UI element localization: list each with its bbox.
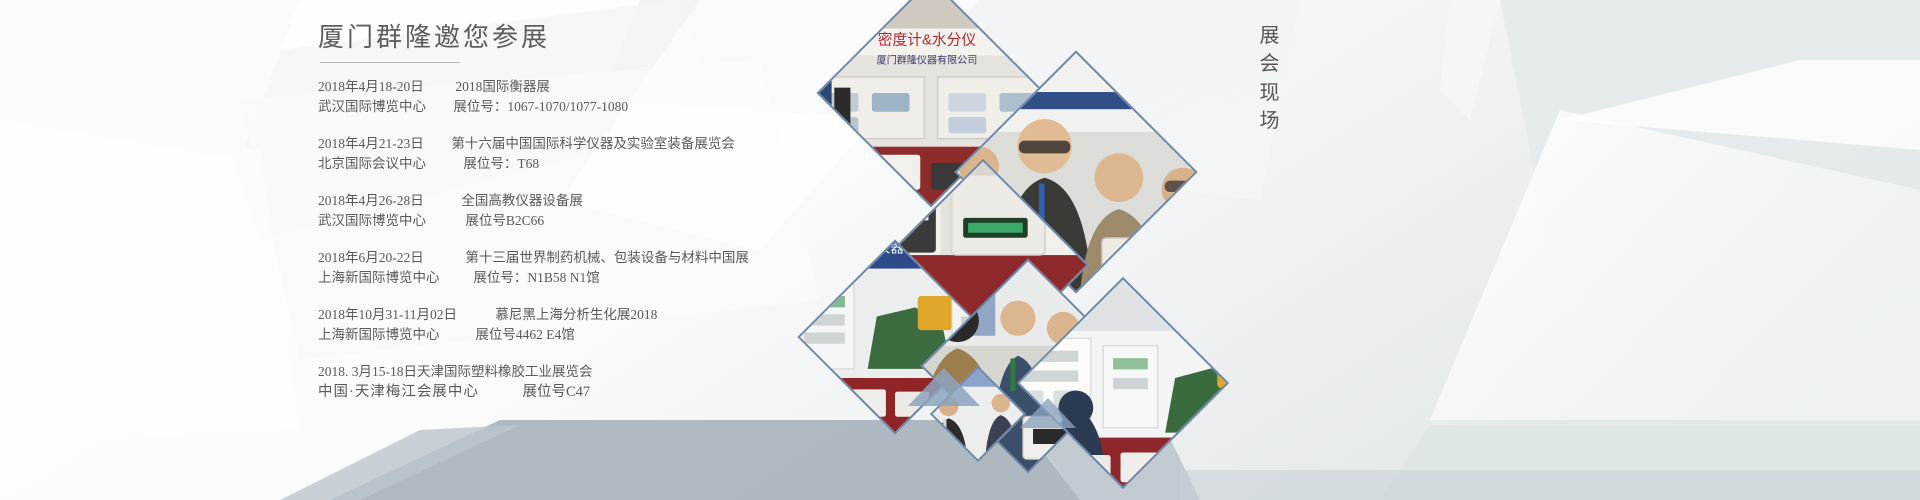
event-venue: 上海新国际博览中心 [318,268,450,288]
banner-root: 厦门群隆邀您参展 2018年4月18-20日 2018国际衡器展 武汉国际博览中… [0,0,1920,500]
title-divider [320,62,460,63]
event-name: 慕尼黑上海分析生化展2018 [473,305,657,325]
vertical-heading-char: 展 [1255,22,1285,50]
event-name: 2018国际衡器展 [439,77,550,97]
vertical-heading-char: 场 [1255,107,1285,135]
vertical-heading: 展 会 现 场 [1255,22,1285,136]
event-date: 2018年4月21-23日 [318,134,436,154]
event-booth: 展位号C47 [482,382,590,402]
event-venue: 武汉国际博览中心 [318,97,436,117]
event-date: 2018年4月18-20日 [318,77,436,97]
event-date: 2018年10月31-11月02日 [318,305,470,325]
event-name: 全国高教仪器设备展 [439,191,583,211]
svg-text:群隆仪器: 群隆仪器 [849,241,904,256]
event-date: 2018年4月26-28日 [318,191,436,211]
event-date: 2018年6月20-22日 [318,248,436,268]
photo-collage: 密度计&水分仪 厦门群隆仪器有限公司 [830,0,1250,500]
event-booth: 展位号B2C66 [439,211,544,231]
event-name: 第十六届中国国际科学仪器及实验室装备展览会 [439,134,735,154]
vertical-heading-char: 现 [1255,79,1285,107]
svg-text:3nGAT: 3nGAT [1165,285,1221,305]
vertical-heading-char: 会 [1255,50,1285,78]
decorative-triangle [1020,398,1076,428]
event-venue: 上海新国际博览中心 [318,325,450,345]
event-booth: 展位号4462 E4馆 [453,325,574,345]
event-name: 第十三届世界制药机械、包装设备与材料中国展 [439,248,749,268]
event-venue: 中国·天津梅江会展中心 [318,382,479,402]
event-booth: 展位号：1067-1070/1077-1080 [439,97,628,117]
svg-text:密度计&水分仪: 密度计&水分仪 [878,32,977,49]
event-venue: 武汉国际博览中心 [318,211,436,231]
decorative-triangle [908,368,980,406]
event-booth: 展位号：T68 [439,154,539,174]
event-date: 2018. 3月15-18日天津国际塑料橡胶工业展览会 [318,362,593,382]
event-booth: 展位号：N1B58 N1馆 [453,268,599,288]
svg-text:厦门群隆仪器有限公司: 厦门群隆仪器有限公司 [877,53,978,66]
event-venue: 北京国际会议中心 [318,154,436,174]
